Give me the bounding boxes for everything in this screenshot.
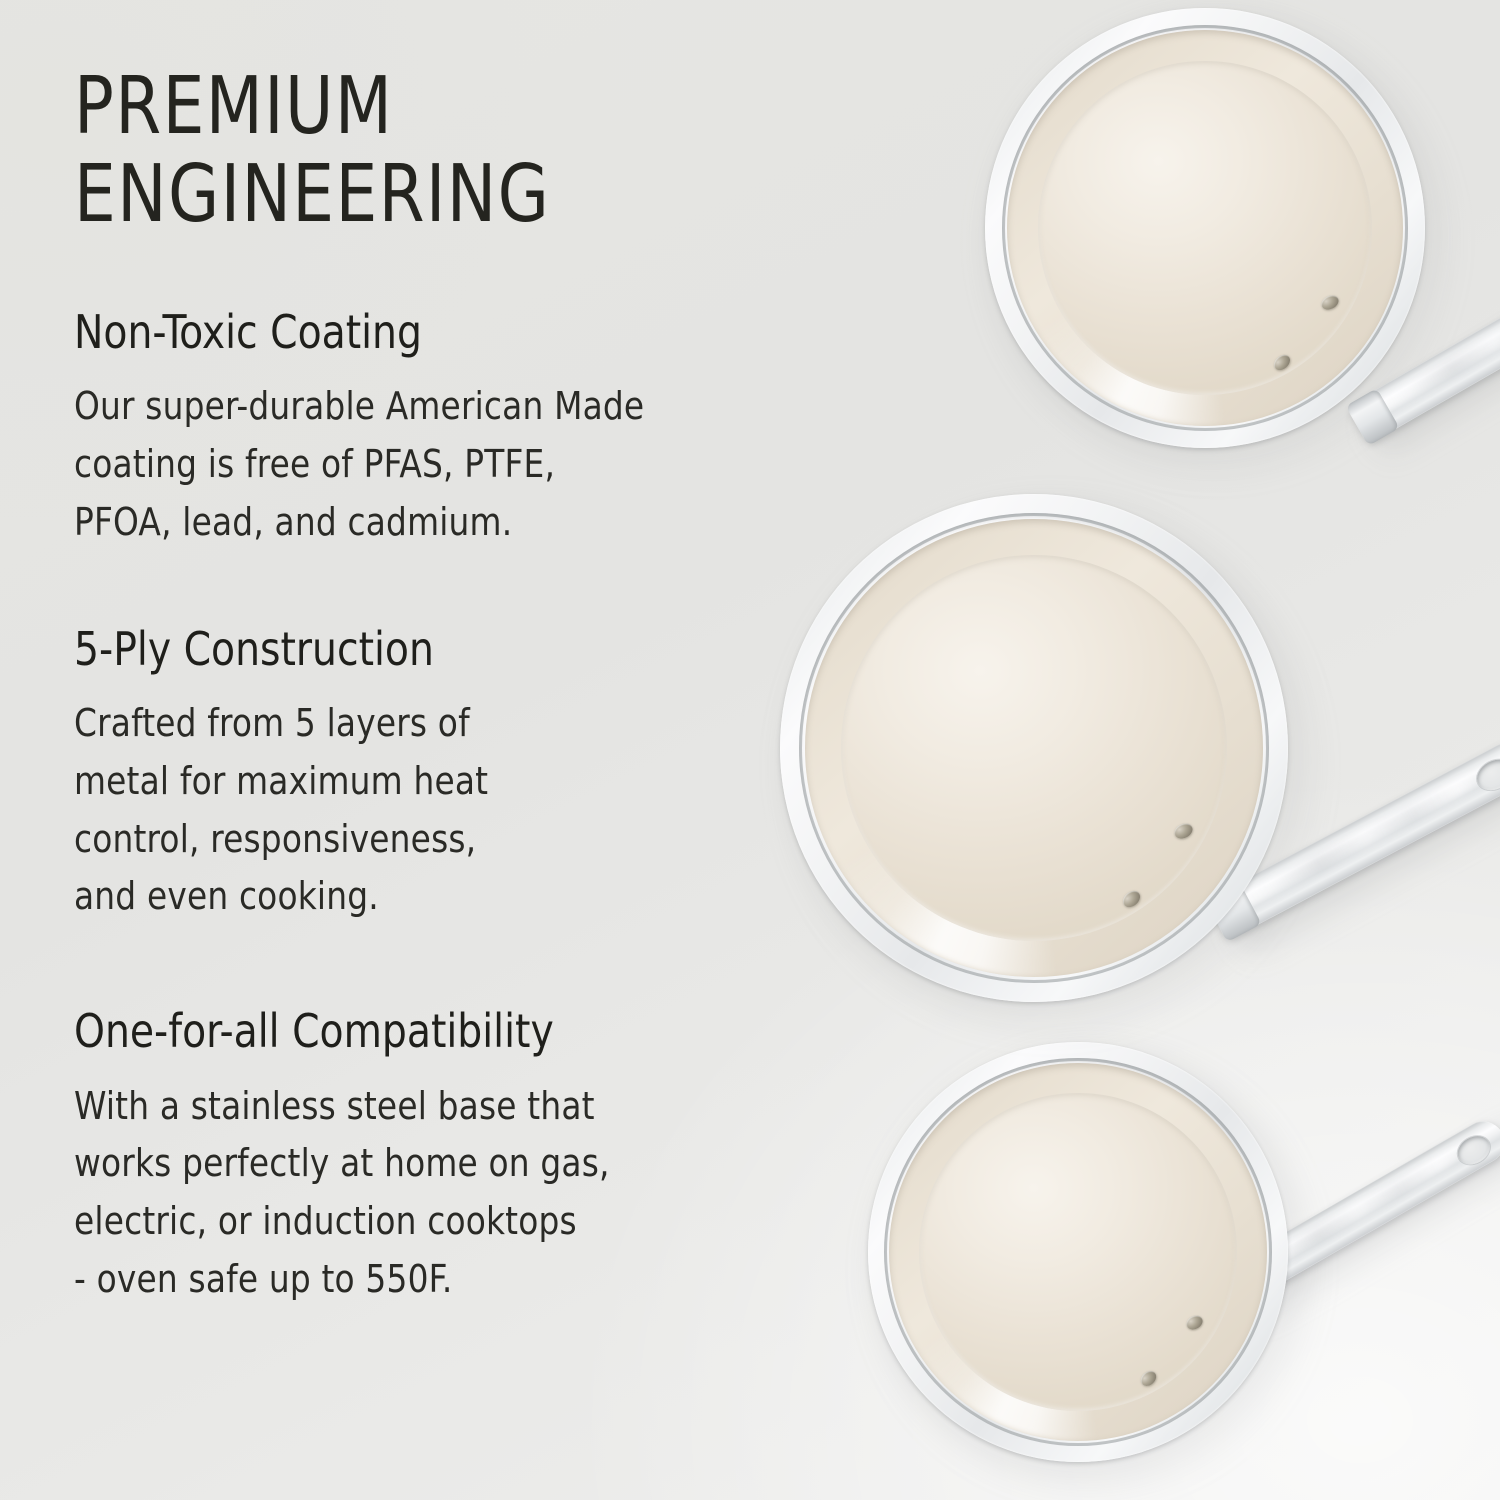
pan-interior-wall bbox=[889, 1063, 1267, 1441]
feature-block-one-for-all-compatibility: One-for-all Compatibility With a stainle… bbox=[74, 1006, 864, 1309]
page-title: PREMIUM ENGINEERING bbox=[74, 62, 809, 239]
feature-block-5-ply-construction: 5-Ply Construction Crafted from 5 layers… bbox=[74, 624, 864, 927]
feature-title: One-for-all Compatibility bbox=[74, 1006, 825, 1058]
feature-title: 5-Ply Construction bbox=[74, 624, 825, 676]
pan-outer-rim bbox=[868, 1042, 1288, 1462]
feature-description: With a stainless steel base that works p… bbox=[74, 1078, 832, 1309]
pan-outer-rim bbox=[780, 494, 1288, 1002]
pan-interior-wall bbox=[805, 519, 1263, 977]
feature-description: Our super-durable American Made coating … bbox=[74, 378, 832, 551]
feature-description: Crafted from 5 layers of metal for maxim… bbox=[74, 695, 832, 926]
pan-cooking-surface bbox=[1038, 61, 1372, 395]
feature-block-non-toxic-coating: Non-Toxic Coating Our super-durable Amer… bbox=[74, 307, 864, 552]
feature-title: Non-Toxic Coating bbox=[74, 307, 825, 359]
pan-cooking-surface bbox=[919, 1093, 1237, 1411]
pan-interior-wall bbox=[1007, 30, 1403, 426]
frying-pan-large bbox=[985, 0, 1500, 540]
frying-pan-small bbox=[860, 1020, 1360, 1500]
frying-pan-medium bbox=[770, 470, 1500, 1070]
product-feature-banner: PREMIUM ENGINEERING Non-Toxic Coating Ou… bbox=[0, 0, 1500, 1500]
pan-outer-rim bbox=[985, 8, 1425, 448]
copy-column: PREMIUM ENGINEERING Non-Toxic Coating Ou… bbox=[74, 62, 864, 1309]
pan-cooking-surface bbox=[841, 555, 1227, 941]
